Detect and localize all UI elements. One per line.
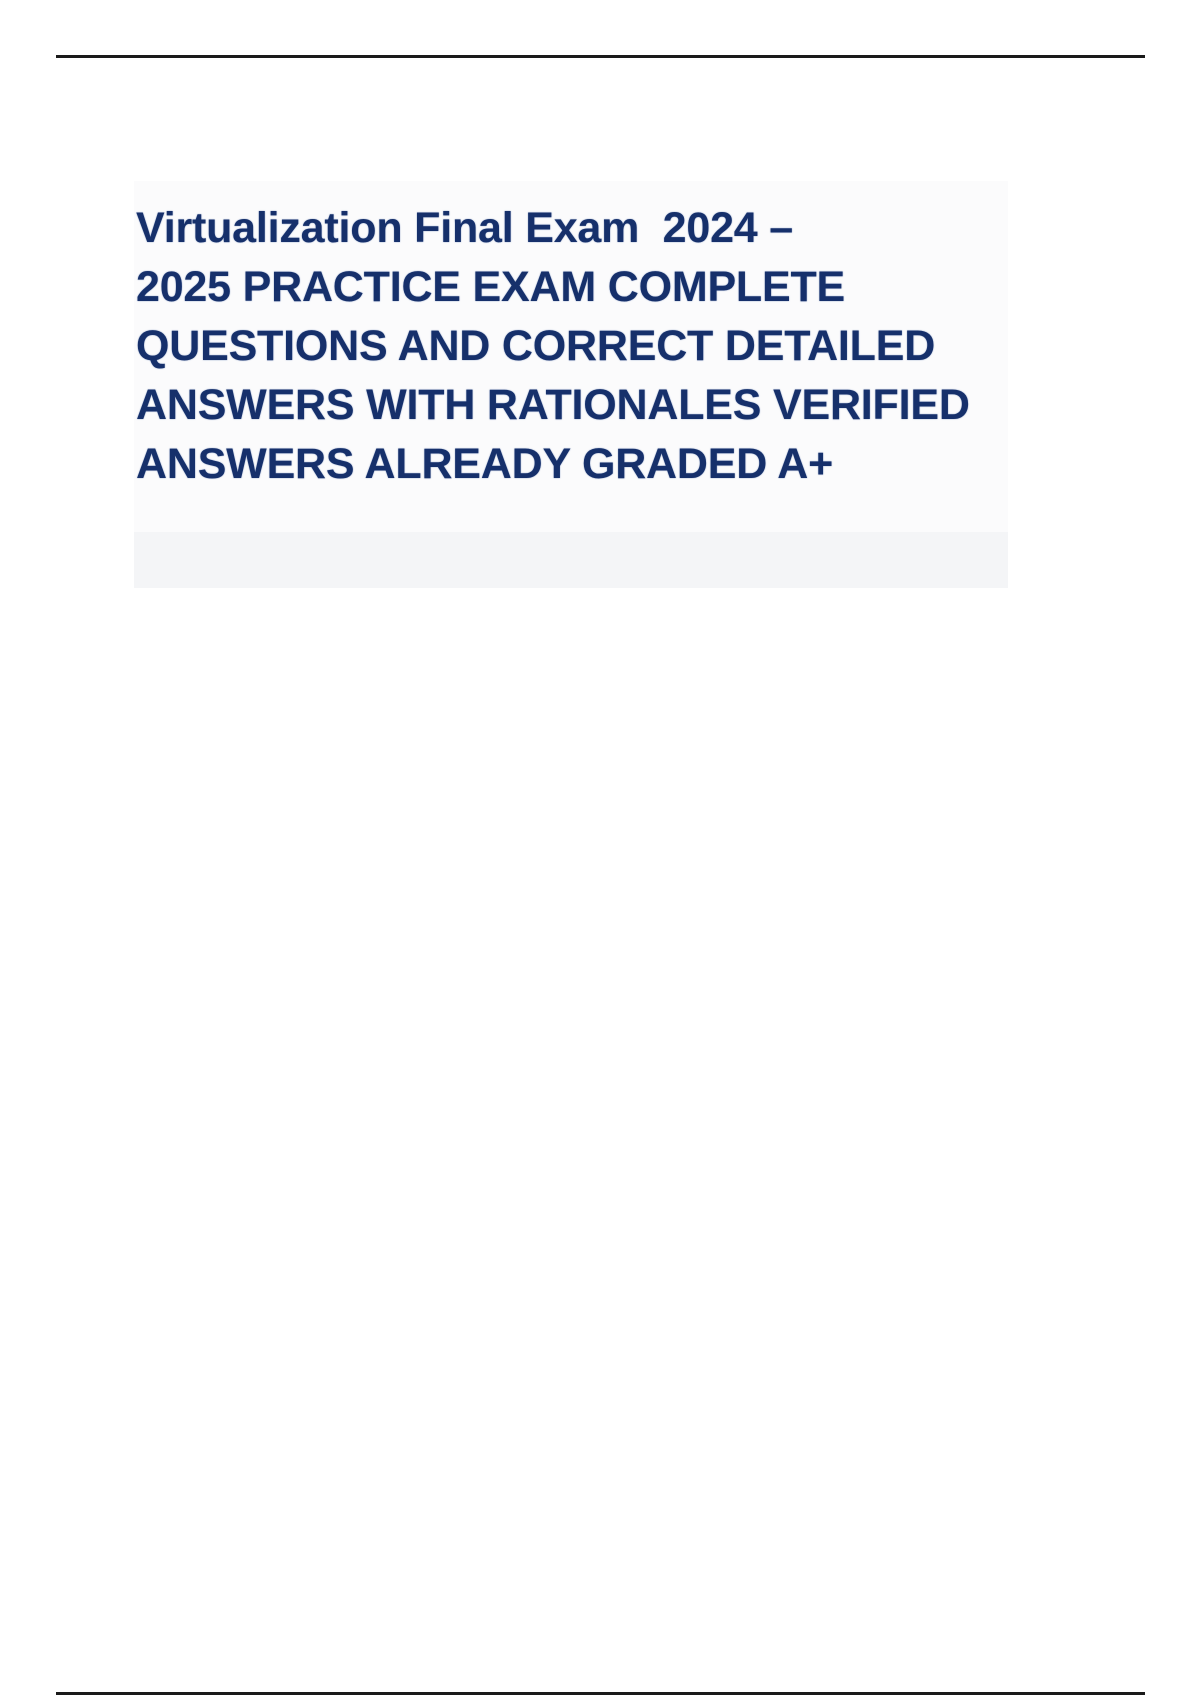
page-title: Virtualization Final Exam 2024 – 2025 PR… [134,199,1008,494]
title-line-4: ANSWERS WITH RATIONALES VERIFIED [136,376,994,435]
document-subtitle-band [134,532,1008,588]
title-line-3: QUESTIONS AND CORRECT DETAILED [136,317,994,376]
document-title-panel: Virtualization Final Exam 2024 – 2025 PR… [134,181,1008,532]
title-line-2: 2025 PRACTICE EXAM COMPLETE [136,258,994,317]
title-line-1: Virtualization Final Exam 2024 – [136,199,994,258]
page-footer-rule [56,1692,1145,1695]
document-title-card: Virtualization Final Exam 2024 – 2025 PR… [134,181,1008,588]
page-header-rule [56,55,1145,58]
title-line-5: ANSWERS ALREADY GRADED A+ [136,435,994,494]
